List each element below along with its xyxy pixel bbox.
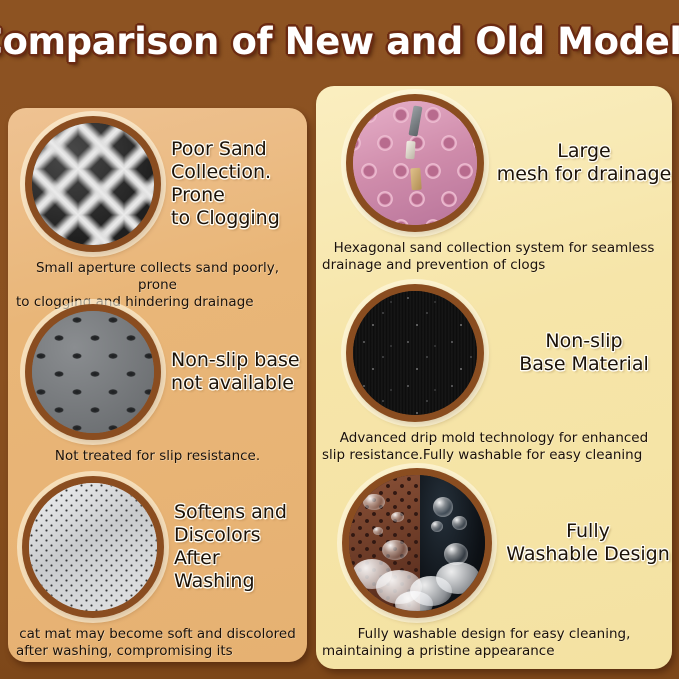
old-feature-1-heading: Poor Sand Collection. Prone to Clogging xyxy=(171,138,307,230)
old-feature-2-heading: Non-slip base not available xyxy=(171,349,300,395)
grid-texture xyxy=(32,123,154,245)
new-feature-1-main: Large mesh for drainage xyxy=(316,94,672,232)
heading-line: Poor Sand xyxy=(171,138,267,160)
old-feature-1-caption: Small aperture collects sand poorly, pro… xyxy=(8,252,307,311)
old-model-panel: Poor Sand Collection. Prone to Clogging … xyxy=(8,108,307,662)
caption-line: cat mat may become soft and discolored xyxy=(16,626,299,643)
old-feature-2-caption: Not treated for slip resistance. xyxy=(8,440,307,465)
caption-line: Small aperture collects sand poorly, pro… xyxy=(16,260,299,294)
tan-chip xyxy=(411,168,423,191)
title-bar: Comparison of New and Old Models xyxy=(0,0,679,84)
bubble xyxy=(391,512,404,522)
caption-line: Hexagonal sand collection system for sea… xyxy=(322,240,666,257)
caption-line: Not treated for slip resistance. xyxy=(16,448,299,465)
gray-studded-base-texture-photo xyxy=(25,304,161,440)
pink-hexagonal-honeycomb-mat-photo xyxy=(346,94,484,232)
old-feature-3-main: Softens and Discolors After Washing xyxy=(8,476,307,618)
caption-line: slip resistance.Fully washable for easy … xyxy=(322,447,666,464)
new-feature-1-caption: Hexagonal sand collection system for sea… xyxy=(316,232,672,274)
page-title: Comparison of New and Old Models xyxy=(0,22,679,62)
new-feature-1: Large mesh for drainage Hexagonal sand c… xyxy=(316,94,672,274)
heading-line: not available xyxy=(171,372,294,394)
infographic-root: Comparison of New and Old Models Poor Sa… xyxy=(0,0,679,679)
bubble xyxy=(382,540,408,560)
old-feature-1-main: Poor Sand Collection. Prone to Clogging xyxy=(8,116,307,252)
heading-line: Softens and xyxy=(174,501,287,523)
new-feature-3-main: Fully Washable Design xyxy=(316,468,672,618)
heading-line: Base Material xyxy=(519,353,649,375)
heading-line: Non-slip base xyxy=(171,349,300,371)
old-feature-3-caption: cat mat may become soft and discolored a… xyxy=(8,618,307,662)
circle-image-clip xyxy=(349,475,485,611)
fine-mesh-fabric-texture-photo xyxy=(22,476,164,618)
foam-blob xyxy=(436,562,480,594)
new-feature-3-caption: Fully washable design for easy cleaning,… xyxy=(316,618,672,660)
heading-line: Collection. Prone xyxy=(171,161,271,206)
caption-line: drainage and prevention of clogs xyxy=(322,257,666,274)
new-feature-3-heading: Fully Washable Design xyxy=(504,520,672,566)
old-feature-2-main: Non-slip base not available xyxy=(8,304,307,440)
caption-line: Advanced drip mold technology for enhanc… xyxy=(322,430,666,447)
heading-line: Discolors After xyxy=(174,524,261,569)
black-fabric-texture xyxy=(353,291,477,415)
heading-line: mesh for drainage xyxy=(497,163,672,185)
old-feature-1: Poor Sand Collection. Prone to Clogging … xyxy=(8,116,307,311)
new-feature-2-caption: Advanced drip mold technology for enhanc… xyxy=(316,422,672,464)
heading-line: Large xyxy=(557,140,610,162)
studs-texture xyxy=(32,311,154,433)
coarse-grid-mat-texture-photo xyxy=(25,116,161,252)
caption-line: maintaining a pristine appearance xyxy=(322,643,666,660)
new-feature-2-main: Non-slip Base Material xyxy=(316,284,672,422)
new-feature-3: Fully Washable Design Fully washable des… xyxy=(316,468,672,660)
heading-line: to Clogging xyxy=(171,207,280,229)
circle-image-clip xyxy=(353,101,477,225)
circle-image-clip xyxy=(32,123,154,245)
bubble xyxy=(433,497,453,517)
heading-line: Washing xyxy=(174,570,255,592)
black-nonslip-fabric-texture-photo xyxy=(346,284,484,422)
circle-image-clip xyxy=(353,291,477,415)
bubble xyxy=(363,494,385,510)
heading-line: Fully xyxy=(566,520,610,542)
circle-image-clip xyxy=(32,311,154,433)
new-feature-2: Non-slip Base Material Advanced drip mol… xyxy=(316,284,672,464)
circle-image-clip xyxy=(29,483,157,611)
old-feature-2: Non-slip base not available Not treated … xyxy=(8,304,307,465)
caption-line: Fully washable design for easy cleaning, xyxy=(322,626,666,643)
bubble xyxy=(431,521,443,532)
old-feature-3: Softens and Discolors After Washing cat … xyxy=(8,476,307,662)
heading-line: Non-slip xyxy=(545,330,622,352)
new-feature-1-heading: Large mesh for drainage xyxy=(496,140,672,186)
fine-mesh-texture xyxy=(29,483,157,611)
old-feature-3-heading: Softens and Discolors After Washing xyxy=(174,501,307,593)
heading-line: Washable Design xyxy=(506,543,669,565)
new-model-panel: Large mesh for drainage Hexagonal sand c… xyxy=(316,86,672,669)
washable-mat-with-water-bubbles-photo xyxy=(342,468,492,618)
white-chip xyxy=(406,140,416,159)
caption-line: after washing, compromising its durabili… xyxy=(16,643,299,662)
new-feature-2-heading: Non-slip Base Material xyxy=(496,330,672,376)
washable-split-texture xyxy=(349,475,485,611)
